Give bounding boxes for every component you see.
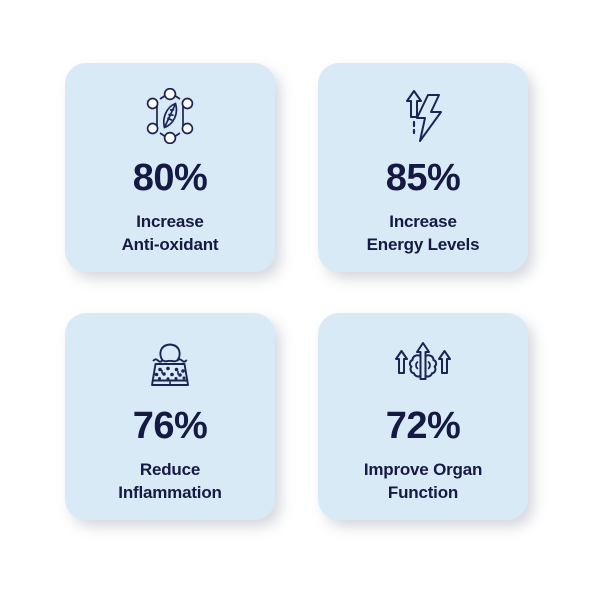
stat-value: 80% (133, 159, 208, 197)
stat-label-line-1: Increase (367, 211, 480, 234)
arrow-lightning-bolt-icon (395, 85, 451, 147)
stat-label: Increase Anti-oxidant (114, 211, 227, 257)
stat-value: 76% (133, 407, 208, 445)
stat-card-inflammation[interactable]: 76% Reduce Inflammation (65, 313, 275, 520)
stat-value: 85% (386, 159, 461, 197)
stat-label-line-1: Reduce (118, 459, 221, 482)
molecule-leaf-icon (141, 85, 199, 147)
stat-card-anti-oxidant[interactable]: 80% Increase Anti-oxidant (65, 63, 275, 272)
stat-card-organ-function[interactable]: 72% Improve Organ Function (318, 313, 528, 520)
stat-label-line-2: Energy Levels (367, 234, 480, 257)
stat-value: 72% (386, 407, 461, 445)
stat-label-line-2: Inflammation (118, 482, 221, 505)
stat-card-energy-levels[interactable]: 85% Increase Energy Levels (318, 63, 528, 272)
brain-arrows-icon (392, 335, 454, 397)
stat-label: Increase Energy Levels (359, 211, 488, 257)
stat-label-line-1: Increase (122, 211, 219, 234)
stat-label: Reduce Inflammation (110, 459, 229, 505)
inflamed-skin-icon (140, 335, 200, 397)
stat-label: Improve Organ Function (356, 459, 490, 505)
infographic-board: 80% Increase Anti-oxidant 85% Incre (0, 0, 600, 600)
stat-label-line-2: Anti-oxidant (122, 234, 219, 257)
stat-label-line-1: Improve Organ (364, 459, 482, 482)
stat-card-grid: 80% Increase Anti-oxidant 85% Incre (65, 63, 525, 520)
stat-label-line-2: Function (364, 482, 482, 505)
